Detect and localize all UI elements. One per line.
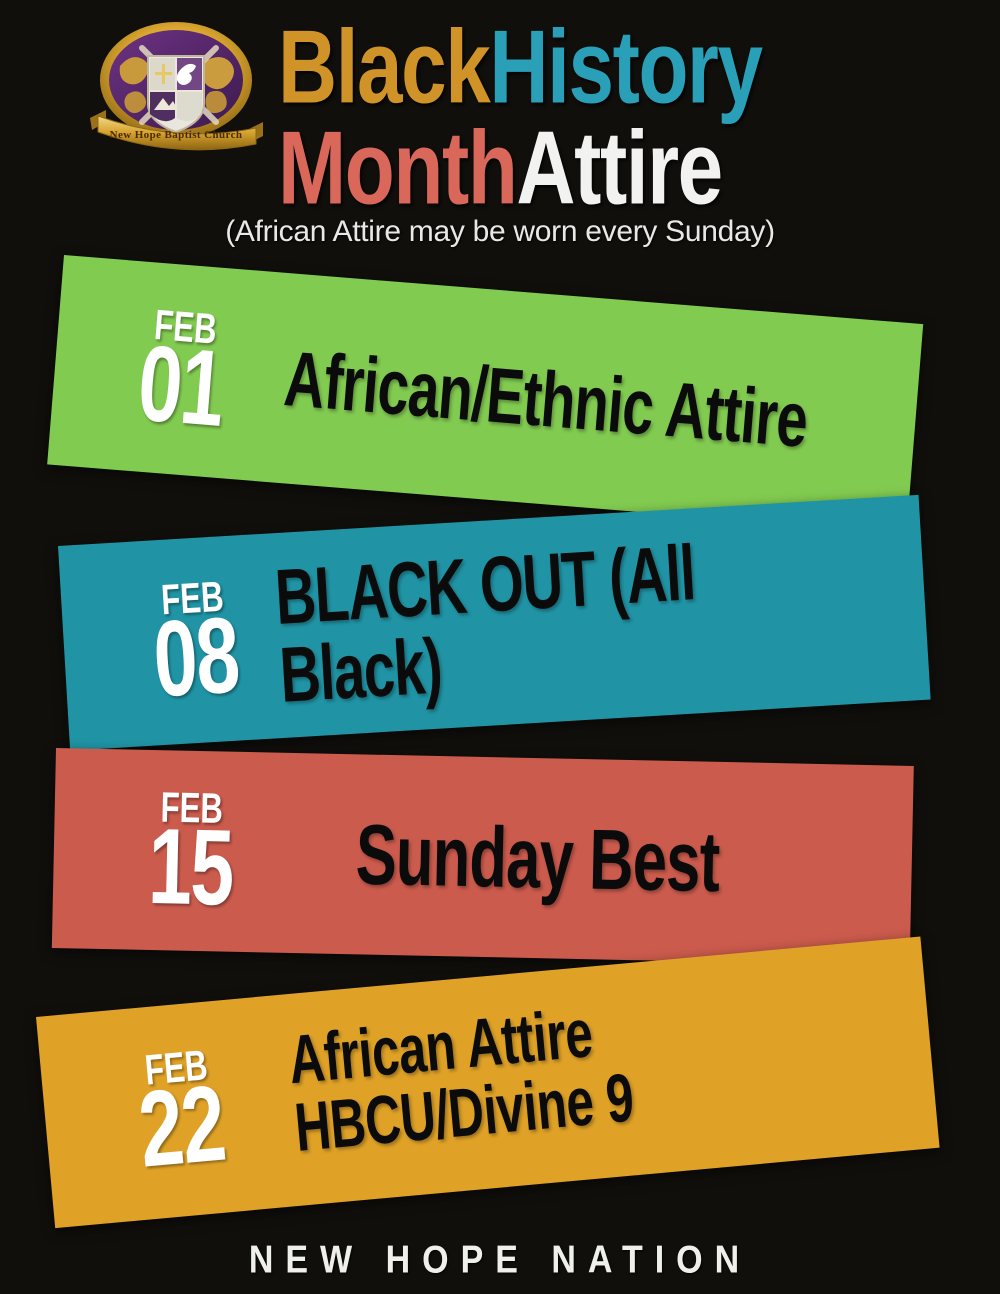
banner-label-line-1: African/Ethnic Attire — [282, 339, 843, 461]
church-crest-globe-shield-icon: New Hope Baptist Church — [84, 18, 269, 158]
date-block: FEB 08 — [127, 579, 264, 702]
banner-label: African/Ethnic Attire — [244, 343, 917, 461]
title-word-attire: Attire — [516, 109, 721, 226]
schedule-banner-feb-01: FEB 01 African/Ethnic Attire — [47, 255, 923, 533]
title-line-2: MonthAttire — [278, 121, 929, 217]
date-day: 08 — [140, 609, 252, 707]
title-line-1: BlackHistory — [278, 20, 929, 116]
schedule-banner-feb-15: FEB 15 Sunday Best — [52, 748, 914, 966]
title-word-month: Month — [278, 109, 516, 226]
banner-label-line-1: Sunday Best — [355, 812, 846, 908]
logo-ribbon-text: New Hope Baptist Church — [110, 129, 243, 141]
schedule-banner-feb-08: FEB 08 BLACK OUT (All Black) — [58, 495, 931, 751]
banner-label: Sunday Best — [255, 817, 912, 901]
date-block: FEB 22 — [110, 1047, 250, 1174]
poster-title: BlackHistory MonthAttire — [278, 20, 978, 202]
banner-label-line-1: BLACK OUT (All Black) — [273, 524, 851, 714]
banner-label: African Attire HBCU/Divine 9 — [239, 974, 936, 1172]
banner-label: BLACK OUT (All Black) — [256, 533, 928, 700]
title-word-black: Black — [278, 8, 489, 125]
poster-subtitle: (African Attire may be worn every Sunday… — [0, 215, 1000, 249]
date-day: 22 — [124, 1077, 238, 1178]
poster-root: New Hope Baptist Church BlackHistory Mon… — [0, 0, 1000, 1294]
date-day: 15 — [136, 821, 244, 915]
schedule-banner-feb-22: FEB 22 African Attire HBCU/Divine 9 — [36, 937, 940, 1229]
date-day: 01 — [124, 337, 238, 437]
date-block: FEB 01 — [113, 307, 252, 433]
poster-header: New Hope Baptist Church BlackHistory Mon… — [0, 0, 1000, 200]
date-block: FEB 15 — [125, 792, 257, 911]
title-word-history: History — [489, 8, 761, 125]
poster-footer: NEW HOPE NATION — [0, 1238, 1000, 1283]
